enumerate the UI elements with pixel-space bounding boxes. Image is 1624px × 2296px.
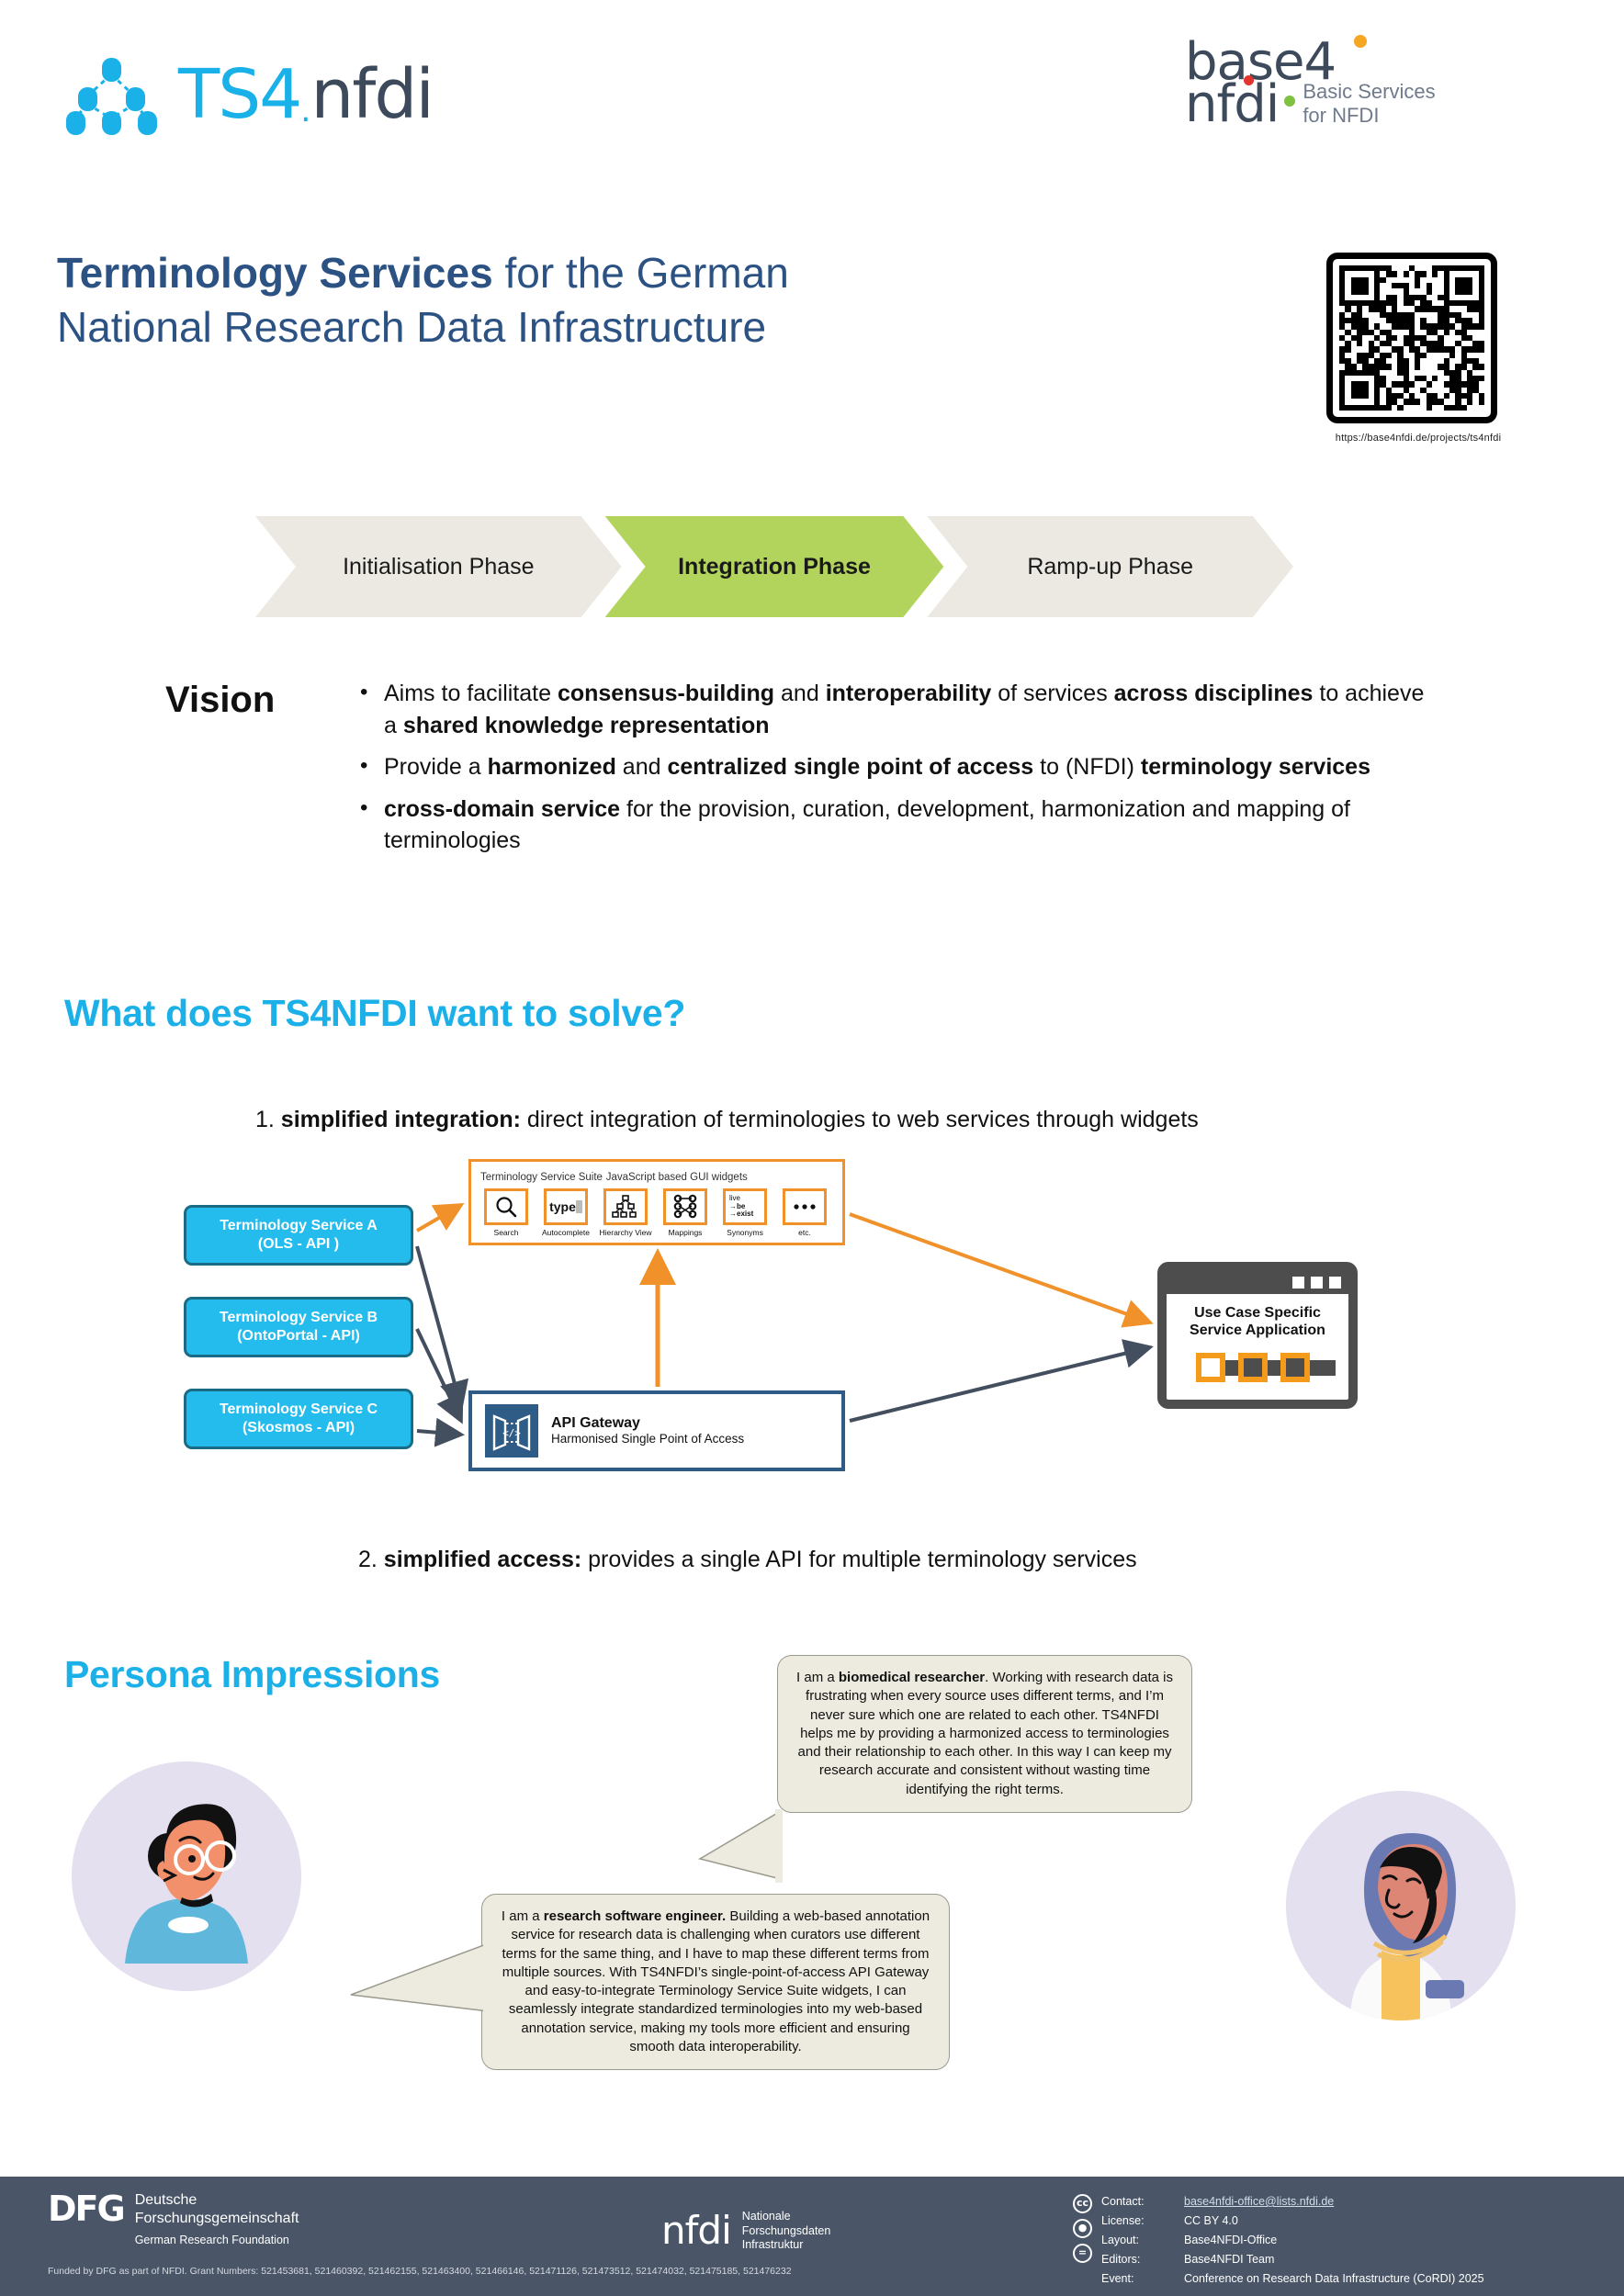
suite-widget-row: Search type Autocomplete	[480, 1188, 833, 1237]
poster-canvas: TS4 . nfdi base4 nfdi Basic Services for…	[0, 0, 1624, 2296]
phase-rampup: Ramp-up Phase	[927, 516, 1293, 617]
persona-bubble-researcher: I am a biomedical researcher. Working wi…	[777, 1655, 1192, 1813]
application-title-line1: Use Case Specific	[1174, 1304, 1341, 1322]
page-title-line2: National Research Data Infrastructure	[57, 303, 766, 351]
qr-code[interactable]	[1326, 253, 1497, 423]
researcher-avatar-glasses	[72, 1761, 301, 1991]
suite-title: Terminology Service Suite JavaScript bas…	[480, 1169, 833, 1183]
page-title-bold: Terminology Services	[57, 249, 493, 297]
green-dot-icon	[1284, 96, 1295, 107]
type-text-icon: type	[544, 1188, 588, 1225]
terminology-service-b-box: Terminology Service B (OntoPortal - API)	[184, 1297, 413, 1357]
vision-label: Vision	[165, 680, 275, 721]
section-heading-personas: Persona Impressions	[64, 1653, 440, 1696]
page-title-rest: for the German	[493, 249, 789, 297]
widget-mappings[interactable]: Mappings	[660, 1188, 711, 1237]
meta-value-contact[interactable]: base4nfdi-office@lists.nfdi.de	[1184, 2193, 1484, 2211]
dfg-wordmark: DFG	[48, 2191, 124, 2226]
architecture-diagram: Terminology Service A (OLS - API ) Termi…	[165, 1159, 1470, 1526]
dfg-line3: German Research Foundation	[135, 2234, 299, 2247]
footer-bar: DFG Deutsche Forschungsgemeinschaft Germ…	[0, 2177, 1624, 2296]
api-gateway-box: </> API Gateway Harmonised Single Point …	[468, 1390, 845, 1471]
suite-subtitle: JavaScript based GUI widgets	[606, 1172, 748, 1183]
meta-value-editors: Base4NFDI Team	[1184, 2251, 1484, 2268]
grant-numbers: Funded by DFG as part of NFDI. Grant Num…	[48, 2265, 792, 2278]
widget-autocomplete[interactable]: type Autocomplete	[540, 1188, 592, 1237]
api-gateway-icon: </>	[485, 1404, 538, 1458]
nfdi-footer-logo: nfdi Nationale Forschungsdaten Infrastru…	[661, 2210, 830, 2253]
magnifier-icon	[484, 1188, 528, 1225]
footer-meta-grid: Contact: base4nfdi-office@lists.nfdi.de …	[1101, 2193, 1484, 2288]
ellipsis-icon	[783, 1188, 827, 1225]
service-api: (Skosmos - API)	[242, 1419, 355, 1437]
widget-search[interactable]: Search	[480, 1188, 532, 1237]
node-graph-icon	[57, 52, 165, 137]
nfdi-wordmark: nfdi	[310, 61, 432, 129]
window-box-1	[1292, 1277, 1304, 1289]
gateway-title: API Gateway	[551, 1414, 744, 1432]
service-name: Terminology Service B	[220, 1309, 378, 1327]
meta-value-event: Conference on Research Data Infrastructu…	[1184, 2270, 1484, 2288]
section-heading-solve: What does TS4NFDI want to solve?	[64, 992, 685, 1035]
nfdi-sub1: Nationale	[742, 2210, 831, 2224]
vision-bullet: Aims to facilitate consensus-building an…	[360, 678, 1426, 741]
by-person-icon: ●	[1073, 2219, 1092, 2238]
solve-point-1: 1. simplified integration: direct integr…	[255, 1107, 1199, 1133]
base4-subtitle-line2: for NFDI	[1303, 104, 1435, 127]
ts4-wordmark: TS4	[178, 61, 300, 129]
application-title-line2: Service Application	[1174, 1322, 1341, 1339]
widget-synonyms[interactable]: live →be →exist Synonyms	[719, 1188, 771, 1237]
terminology-service-a-box: Terminology Service A (OLS - API )	[184, 1205, 413, 1266]
ts4nfdi-logo: TS4 . nfdi	[57, 44, 626, 145]
nfdi-footer-wordmark: nfdi	[661, 2212, 731, 2250]
page-title: Terminology Services for the German Nati…	[57, 246, 1159, 355]
dfg-line2: Forschungsgemeinschaft	[135, 2210, 299, 2228]
cc-license-icons: cc ● =	[1073, 2193, 1092, 2288]
footer-metadata: cc ● = Contact: base4nfdi-office@lists.n…	[1073, 2193, 1484, 2288]
phase-timeline: Initialisation Phase Integration Phase R…	[255, 516, 1293, 617]
bubble-tail-2	[349, 1938, 491, 2039]
bubble-tail-1	[698, 1807, 783, 1899]
embedded-widget-2	[1238, 1353, 1268, 1382]
dfg-line1: Deutsche	[135, 2191, 299, 2210]
window-box-2	[1311, 1277, 1323, 1289]
qr-code-block[interactable]: https://base4nfdi.de/projects/ts4nfdi	[1326, 253, 1510, 444]
suite-title-text: Terminology Service Suite	[480, 1172, 603, 1183]
service-name: Terminology Service A	[220, 1217, 378, 1235]
phase-initialisation: Initialisation Phase	[255, 516, 622, 617]
phase-integration: Integration Phase	[605, 516, 944, 617]
nfdi-sub3: Infrastruktur	[742, 2238, 831, 2253]
svg-text:</>: </>	[502, 1427, 521, 1439]
synonym-line-3: →exist	[729, 1210, 753, 1218]
widget-label: Synonyms	[727, 1228, 763, 1237]
meta-key-editors: Editors:	[1101, 2251, 1184, 2268]
window-box-3	[1329, 1277, 1341, 1289]
meta-key-contact: Contact:	[1101, 2193, 1184, 2211]
widget-label: etc.	[798, 1228, 811, 1237]
browser-content: Use Case Specific Service Application	[1167, 1293, 1348, 1383]
service-api: (OntoPortal - API)	[237, 1327, 360, 1345]
meta-value-license: CC BY 4.0	[1184, 2212, 1484, 2230]
solve-point-2: 2. simplified access: provides a single …	[358, 1547, 1137, 1573]
phase-label: Integration Phase	[678, 554, 871, 580]
widget-label: Mappings	[669, 1228, 703, 1237]
application-widget-strip	[1174, 1352, 1341, 1383]
meta-value-layout: Base4NFDI-Office	[1184, 2232, 1484, 2249]
widget-label: Search	[494, 1228, 519, 1237]
browser-titlebar	[1166, 1270, 1349, 1294]
base4nfdi-logo: base4 nfdi Basic Services for NFDI	[1185, 37, 1571, 140]
meta-key-license: License:	[1101, 2212, 1184, 2230]
meta-key-layout: Layout:	[1101, 2232, 1184, 2249]
phase-label: Ramp-up Phase	[1027, 554, 1193, 580]
gateway-subtitle: Harmonised Single Point of Access	[551, 1432, 744, 1447]
nfdi-sub2: Forschungsdaten	[742, 2224, 831, 2239]
embedded-widget-3	[1280, 1353, 1310, 1382]
qr-url-label: https://base4nfdi.de/projects/ts4nfdi	[1326, 433, 1510, 444]
node-mapping-icon	[663, 1188, 707, 1225]
dfg-logo: DFG Deutsche Forschungsgemeinschaft Germ…	[48, 2191, 299, 2247]
persona-bubble-engineer: I am a research software engineer. Build…	[481, 1894, 950, 2070]
terminology-service-c-box: Terminology Service C (Skosmos - API)	[184, 1389, 413, 1449]
vision-bullet: cross-domain service for the provision, …	[360, 793, 1426, 857]
terminology-service-suite-box: Terminology Service Suite JavaScript bas…	[468, 1159, 845, 1245]
widget-label: Hierarchy View	[600, 1228, 652, 1237]
embedded-widget-1	[1196, 1353, 1225, 1382]
base4-subtitle-line1: Basic Services	[1303, 80, 1435, 103]
base4-nfdi-wordmark: nfdi	[1185, 79, 1279, 130]
ts4-dot: .	[300, 91, 310, 128]
service-api: (OLS - API )	[258, 1235, 339, 1254]
meta-key-event: Event:	[1101, 2270, 1184, 2288]
cc-icon: cc	[1073, 2194, 1092, 2213]
widget-label: Autocomplete	[542, 1228, 590, 1237]
service-name: Terminology Service C	[220, 1401, 378, 1419]
use-case-application-window: Use Case Specific Service Application	[1157, 1262, 1358, 1409]
widget-hierarchy-view[interactable]: Hierarchy View	[600, 1188, 651, 1237]
widget-etc[interactable]: etc.	[779, 1188, 830, 1237]
equals-icon: =	[1073, 2244, 1092, 2263]
vision-bullet-list: Aims to facilitate consensus-building an…	[360, 678, 1426, 867]
tree-hierarchy-icon	[603, 1188, 648, 1225]
phase-label: Initialisation Phase	[343, 554, 534, 580]
engineer-avatar-hijab	[1286, 1791, 1516, 2020]
vision-bullet: Provide a harmonized and centralized sin…	[360, 751, 1426, 783]
orange-dot-icon	[1354, 35, 1367, 48]
synonym-list-icon: live →be →exist	[723, 1188, 767, 1225]
